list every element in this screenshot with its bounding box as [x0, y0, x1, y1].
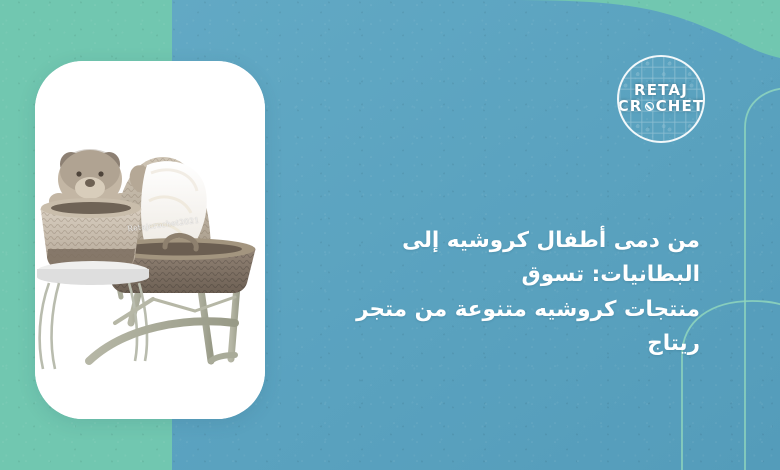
crochet-hook-icon	[645, 102, 654, 111]
promo-banner: RETAJ CR CHET	[0, 0, 780, 470]
logo-bottom-text: CR CHET	[618, 99, 705, 115]
logo-bottom-text-left: CR	[618, 99, 643, 115]
logo-bottom-text-right: CHET	[656, 99, 705, 115]
product-photo-card[interactable]: Retajcrochet2021	[35, 61, 265, 419]
retaj-crochet-logo[interactable]: RETAJ CR CHET	[617, 55, 705, 143]
product-photo-illustration	[35, 61, 265, 419]
headline-line-1: من دمى أطفال كروشيه إلى البطانيات: تسوق	[300, 224, 700, 293]
product-photo	[35, 61, 265, 419]
headline: من دمى أطفال كروشيه إلى البطانيات: تسوق …	[300, 224, 700, 362]
crochet-storage-basket	[41, 198, 142, 269]
headline-line-2: منتجات كروشيه متنوعة من متجر ريتاج	[300, 293, 700, 362]
